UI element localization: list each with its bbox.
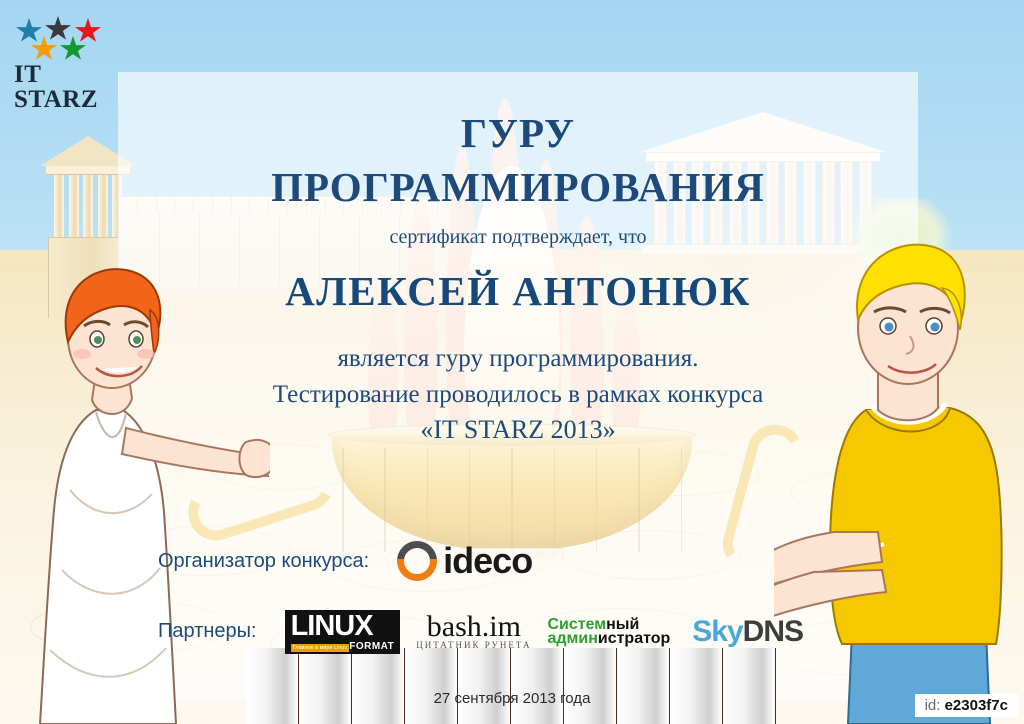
- title-line-2: ПРОГРАММИРОВАНИЯ: [118, 160, 918, 214]
- ideco-swirl-icon: [397, 541, 437, 581]
- body-line-1: является гуру программирования.: [118, 341, 918, 377]
- bash-im-wordmark: bash.im: [416, 613, 531, 640]
- sponsors-section: Организатор конкурса: ideco Партнеры: LI…: [118, 540, 918, 654]
- bash-im-logo: bash.im ЦИТАТНИК РУНЕТА: [416, 613, 531, 650]
- certificate-id-label: id:: [925, 697, 941, 714]
- logo-stars: [14, 14, 114, 60]
- body-line-3: «IT STARZ 2013»: [118, 412, 918, 449]
- sysadmin-part-4: истратор: [598, 630, 670, 647]
- certificate-canvas: IT STARZ ГУРУ ПРОГРАММИРОВАНИЯ сертифика…: [0, 0, 1024, 724]
- organizer-row: Организатор конкурса: ideco: [118, 540, 918, 582]
- star-red-icon: [75, 18, 101, 44]
- linux-format-logo: LINUX Главное в мире Linux FORMAT: [285, 610, 401, 654]
- linux-format-tagline: Главное в мире Linux: [291, 644, 350, 652]
- ideco-logo: ideco: [397, 540, 532, 582]
- certificate-title: ГУРУ ПРОГРАММИРОВАНИЯ: [118, 106, 918, 214]
- skydns-part-sky: Sky: [692, 615, 742, 648]
- partners-row: Партнеры: LINUX Главное в мире Linux FOR…: [118, 610, 918, 654]
- issue-date: 27 сентября 2013 года: [0, 690, 1024, 707]
- ideco-wordmark: ideco: [443, 540, 532, 582]
- star-blue-icon: [16, 18, 42, 44]
- bash-im-subtitle: ЦИТАТНИК РУНЕТА: [416, 640, 531, 650]
- sysadmin-part-3: админ: [547, 630, 597, 647]
- it-starz-logo: IT STARZ: [14, 14, 118, 92]
- skydns-logo: SkyDNS: [692, 615, 803, 649]
- title-line-1: ГУРУ: [118, 106, 918, 160]
- skydns-part-dns: DNS: [743, 615, 803, 648]
- tower-columns: [54, 175, 122, 237]
- certificate-id-value: e2303f7c: [945, 697, 1008, 714]
- certificate-body: является гуру программирования. Тестиров…: [118, 341, 918, 449]
- certificate-subtitle: сертификат подтверждает, что: [118, 226, 918, 249]
- partners-label: Партнеры:: [158, 620, 257, 643]
- linux-format-line1: LINUX: [291, 613, 395, 640]
- recipient-name: АЛЕКСЕЙ АНТОНЮК: [118, 267, 918, 315]
- sistemny-administrator-logo: Системный администратор: [547, 617, 670, 647]
- certificate-id-badge: id: e2303f7c: [915, 694, 1018, 717]
- logo-wordmark: IT STARZ: [14, 62, 118, 112]
- star-black-icon: [45, 16, 71, 42]
- linux-format-line2: FORMAT: [349, 641, 394, 652]
- body-line-2: Тестирование проводилось в рамках конкур…: [118, 377, 918, 413]
- organizer-label: Организатор конкурса:: [158, 550, 369, 573]
